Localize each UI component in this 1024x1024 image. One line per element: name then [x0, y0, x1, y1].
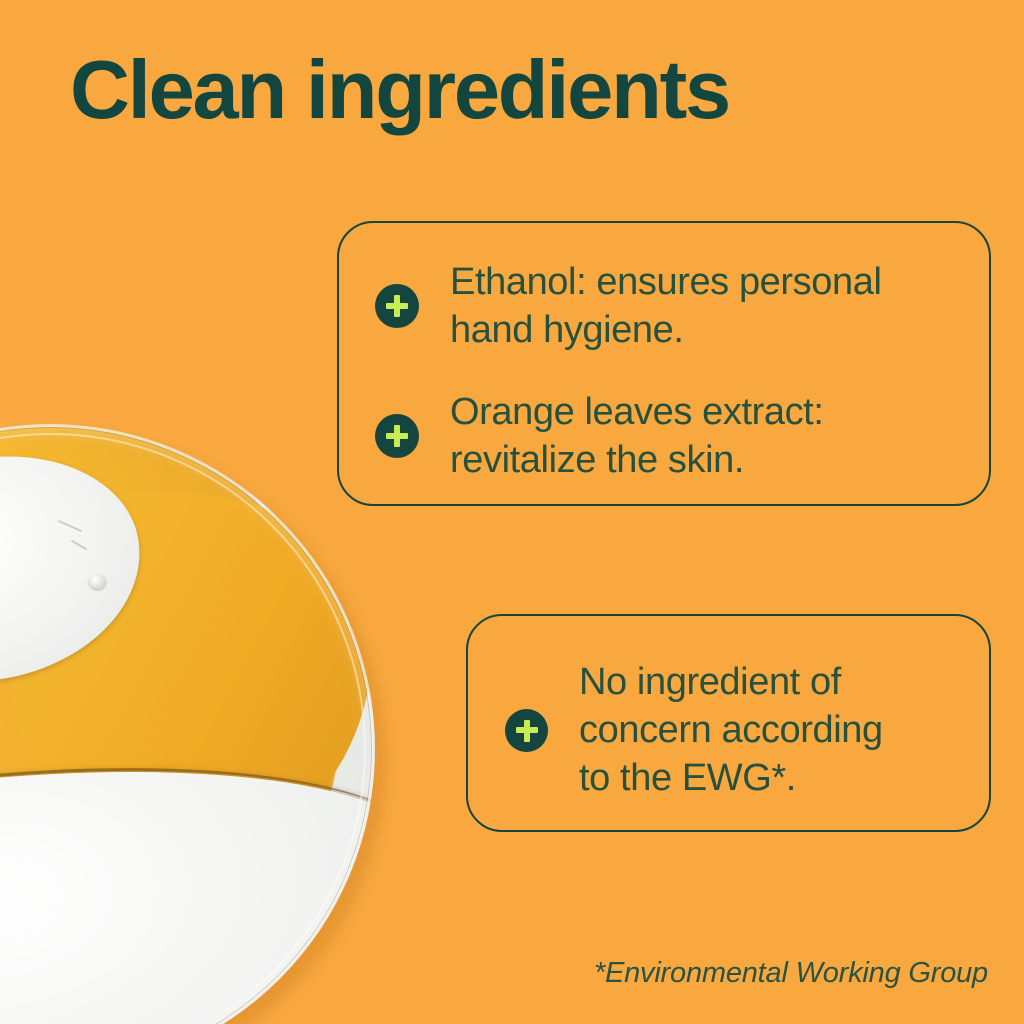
bullet-no-ingredient-of-concern-label: No ingredient of concern according to th… [579, 658, 883, 802]
page-title: Clean ingredients [70, 46, 729, 133]
plus-icon [375, 284, 419, 328]
bullet-no-ingredient-of-concern: No ingredient of concern according to th… [505, 658, 883, 802]
bullet-ethanol: Ethanol: ensures personal hand hygiene. [375, 258, 882, 354]
bullet-orange-leaves-extract-label: Orange leaves extract: revitalize the sk… [450, 388, 824, 484]
bullet-orange-leaves-extract: Orange leaves extract: revitalize the sk… [375, 388, 824, 484]
promo-graphic: Clean ingredients Ethanol: ensures perso… [0, 0, 1024, 1024]
footnote: *Environmental Working Group [594, 957, 988, 990]
plus-icon [375, 414, 419, 458]
plus-icon [505, 709, 548, 752]
petri-dish-photo [0, 424, 375, 1024]
dish-bubble [89, 574, 106, 589]
bullet-ethanol-label: Ethanol: ensures personal hand hygiene. [450, 258, 882, 354]
dish-body [0, 424, 375, 1024]
